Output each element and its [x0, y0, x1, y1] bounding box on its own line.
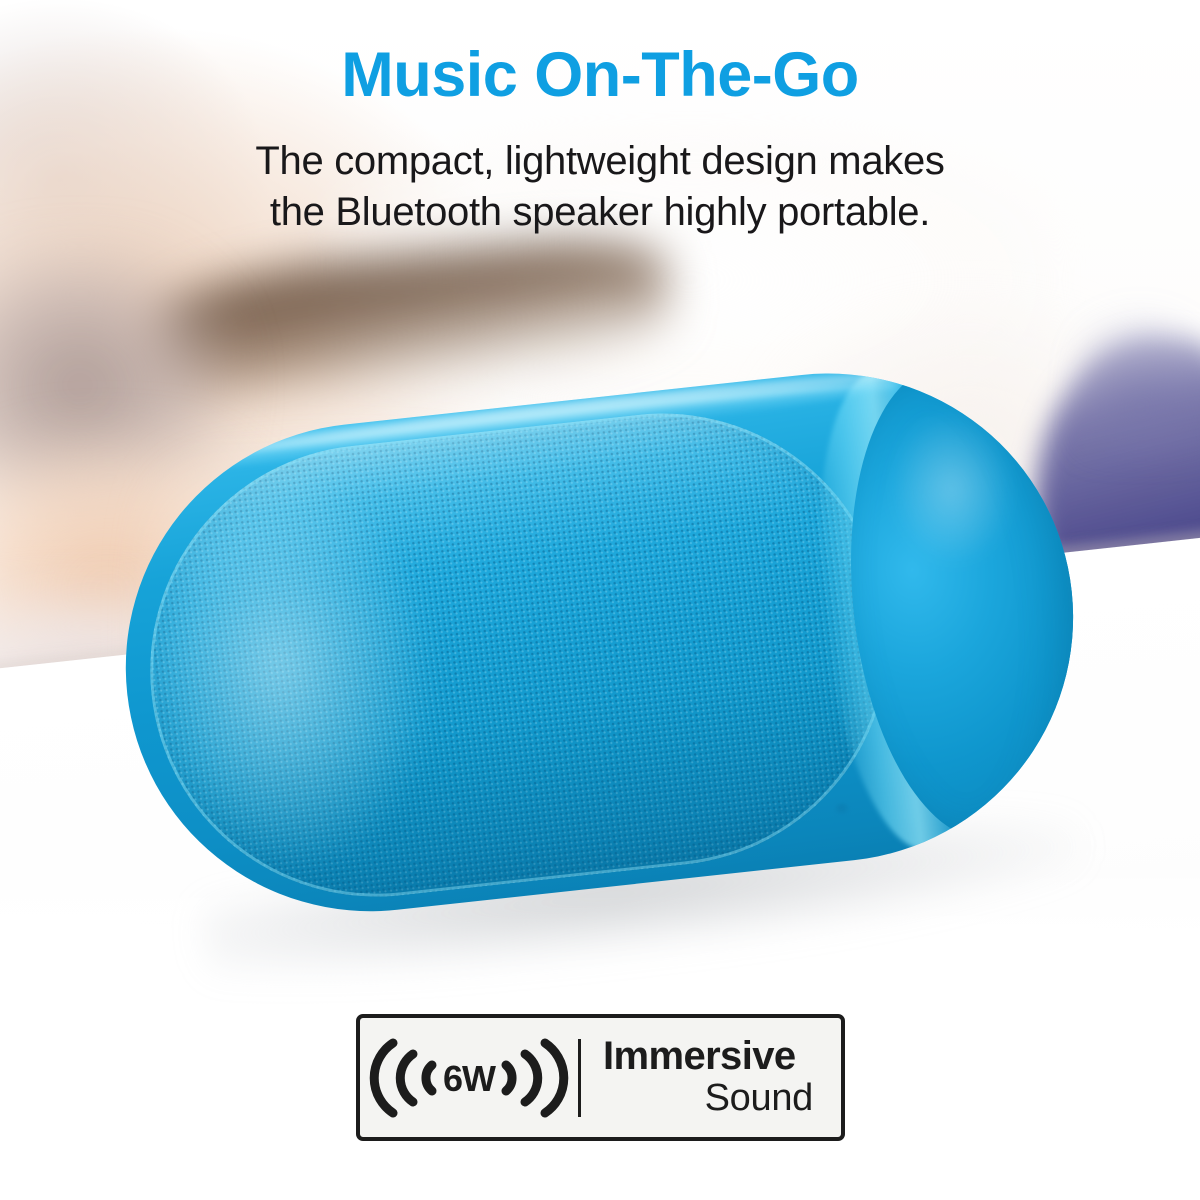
- subtitle-line-2: the Bluetooth speaker highly portable.: [0, 187, 1200, 238]
- sound-wave-power-icon: 6W: [369, 1035, 569, 1121]
- badge-icon-zone: 6W: [360, 1018, 578, 1137]
- subtitle-line-1: The compact, lightweight design makes: [0, 136, 1200, 187]
- badge-text-zone: Immersive Sound: [581, 1036, 841, 1119]
- page-subtitle: The compact, lightweight design makes th…: [0, 136, 1200, 238]
- speaker-end-cap-highlight: [884, 407, 1019, 569]
- sound-wave-right-arc-middle: [525, 1054, 538, 1102]
- speaker-grille-panel: [127, 390, 911, 919]
- marketing-banner: Music On-The-Go The compact, lightweight…: [0, 0, 1200, 1200]
- feature-badge: 6W Immersive Sound: [356, 1014, 845, 1141]
- sound-wave-left-arc-middle: [400, 1054, 413, 1102]
- badge-feature-line-1: Immersive: [603, 1036, 796, 1076]
- sound-wave-left-arc-inner: [426, 1065, 432, 1091]
- sound-wave-right-arc-outer: [545, 1043, 564, 1113]
- page-title: Music On-The-Go: [0, 42, 1200, 108]
- badge-power-label: 6W: [443, 1058, 496, 1099]
- product-image-speaker: [90, 331, 1157, 1017]
- badge-feature-line-2: Sound: [705, 1078, 813, 1119]
- sound-wave-right-arc-inner: [506, 1065, 512, 1091]
- sound-wave-left-arc-outer: [374, 1043, 393, 1113]
